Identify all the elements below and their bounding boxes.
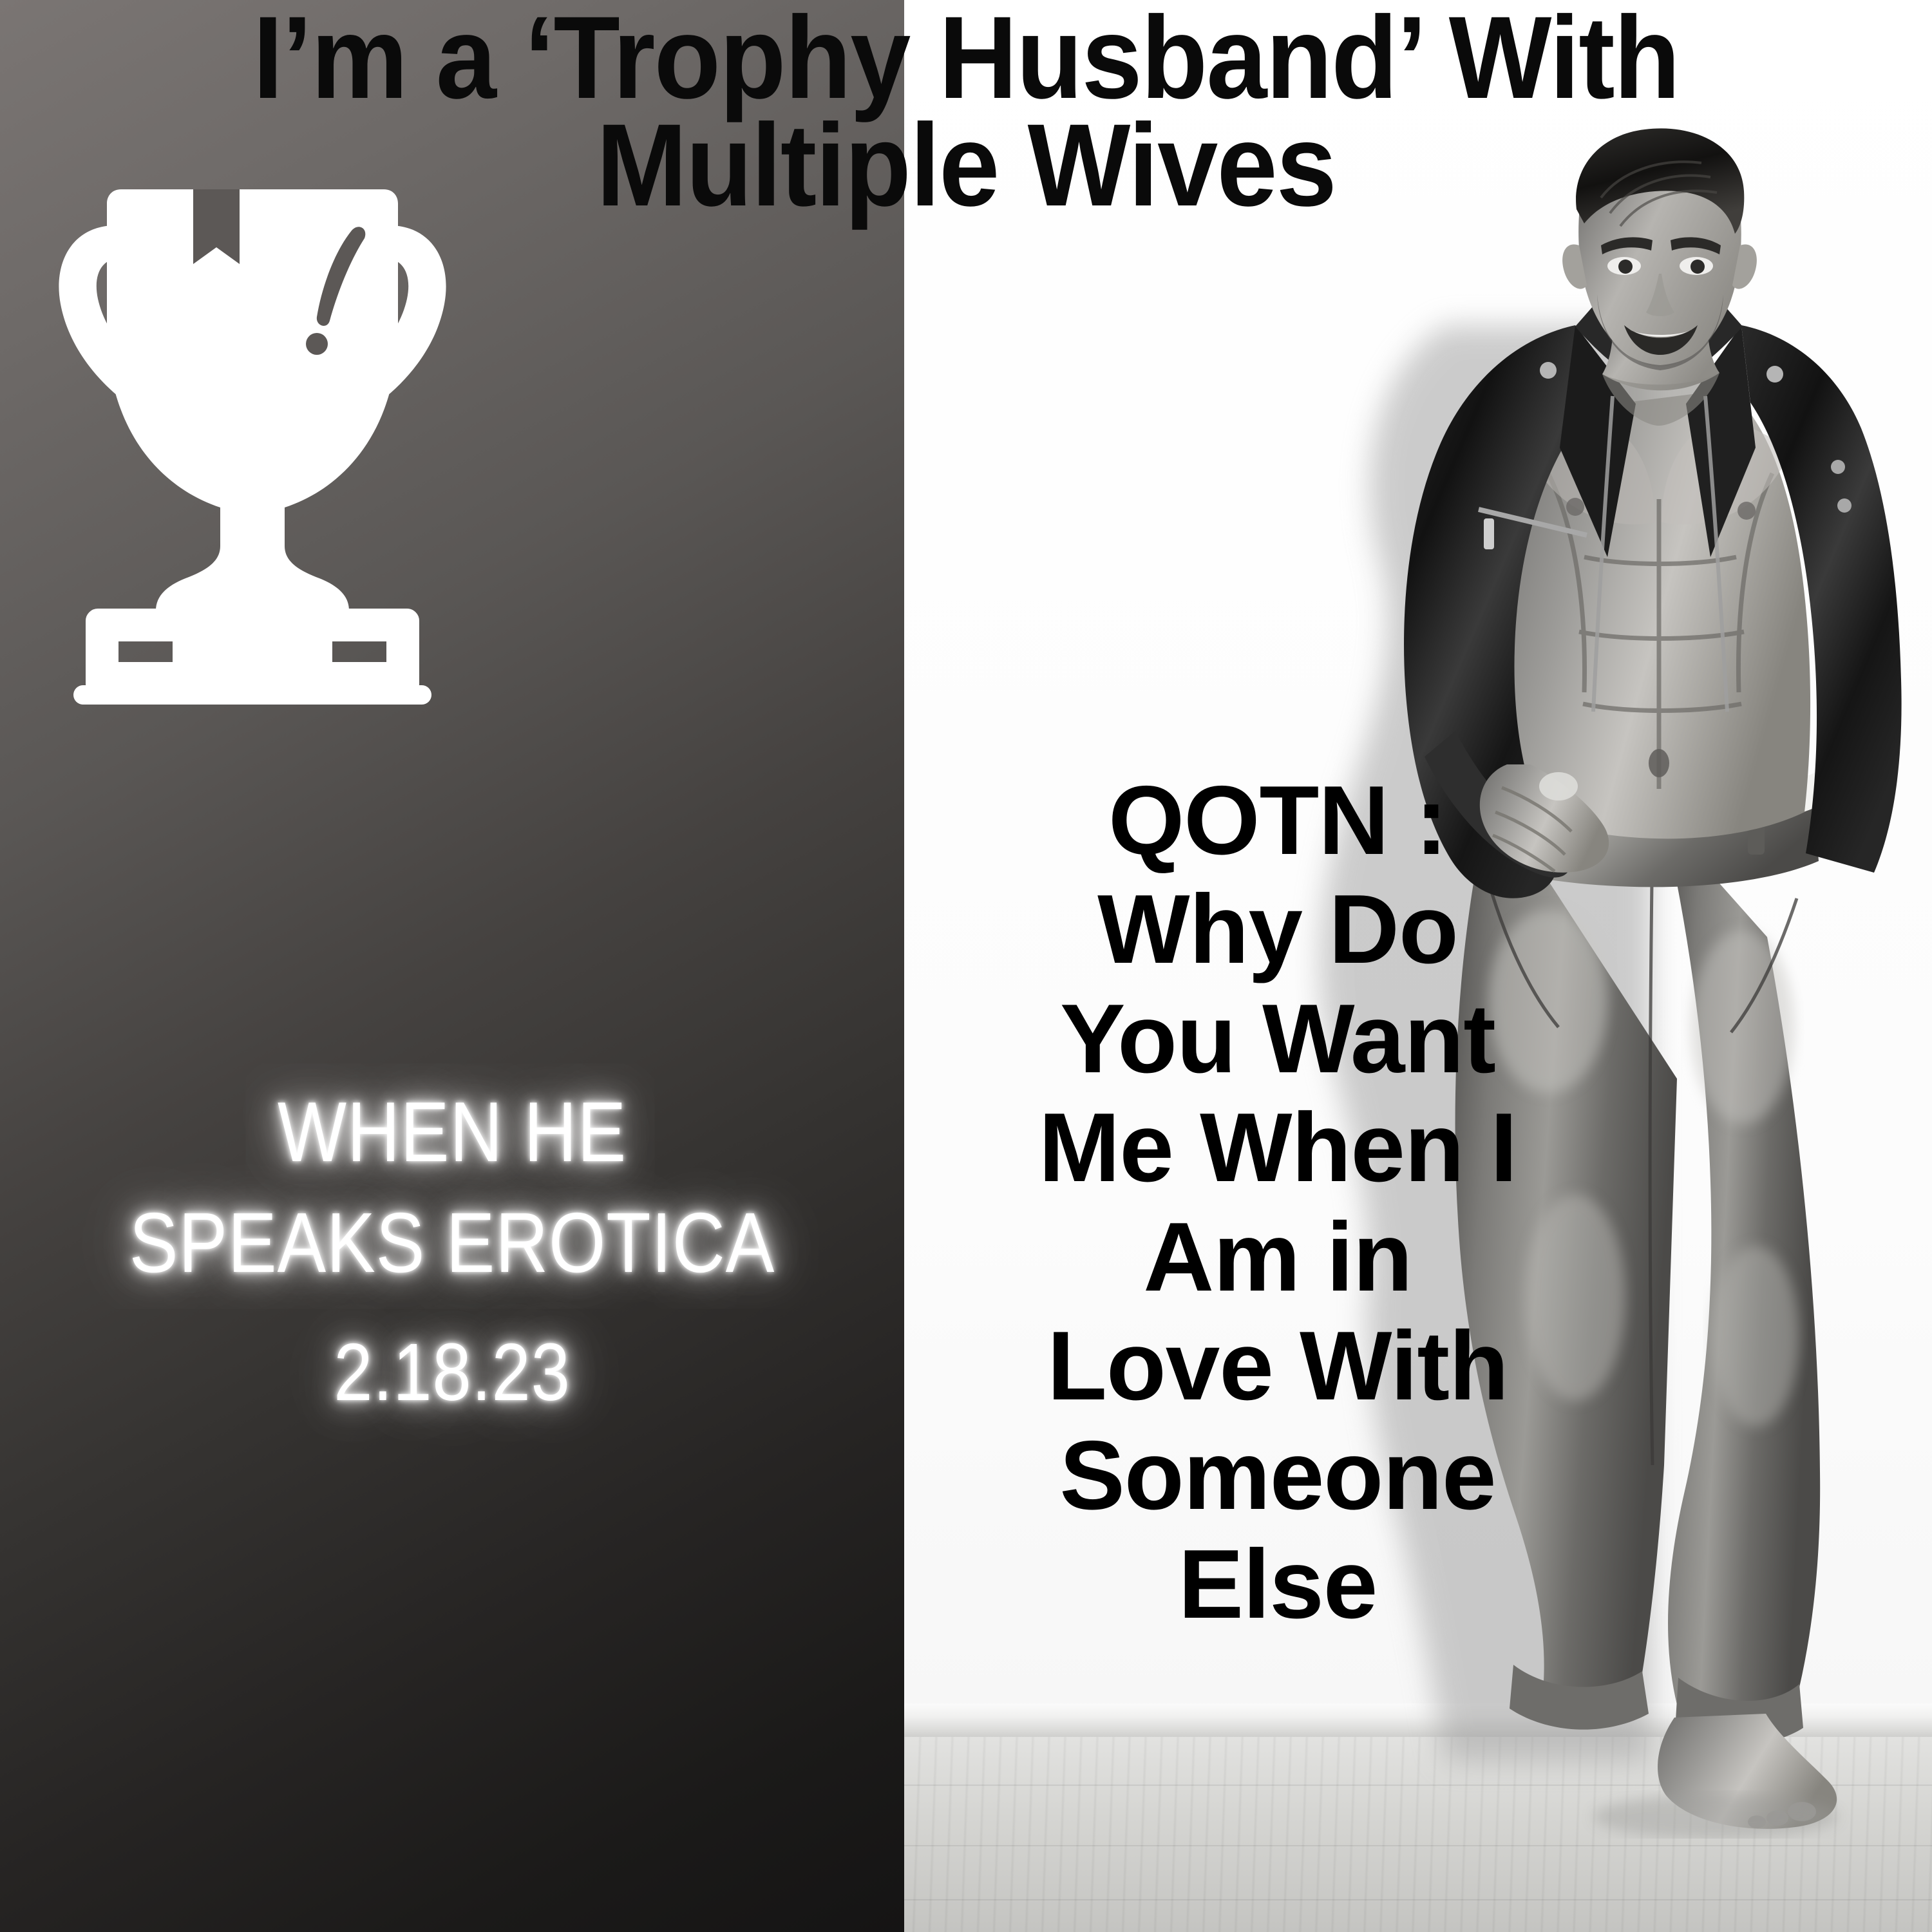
question-line-6: Love With [904,1312,1651,1421]
neon-sign-text: WHEN HE SPEAKS EROTICA 2.18.23 [0,1077,904,1425]
question-of-the-night-text: QOTN : Why Do You Want Me When I Am in L… [904,766,1651,1640]
poster-canvas: WHEN HE SPEAKS EROTICA 2.18.23 [0,0,1932,1932]
question-line-7: Someone [904,1421,1651,1530]
neon-line-1: WHEN HE [63,1077,840,1188]
question-line-5: Am in [904,1203,1651,1312]
trophy-icon [46,166,459,707]
question-line-1: QOTN : [904,766,1651,875]
question-line-3: You Want [904,985,1651,1094]
left-panel: WHEN HE SPEAKS EROTICA 2.18.23 [0,0,904,1932]
neon-line-2: SPEAKS EROTICA [63,1188,840,1298]
question-line-4: Me When I [904,1094,1651,1202]
title-line-1: I’m a ‘Trophy Husband’ With [68,4,1864,111]
question-line-2: Why Do [904,875,1651,984]
neon-date: 2.18.23 [63,1320,840,1425]
page-title: I’m a ‘Trophy Husband’ With Multiple Wiv… [0,4,1932,220]
title-line-2: Multiple Wives [68,111,1864,219]
question-line-8: Else [904,1530,1651,1639]
